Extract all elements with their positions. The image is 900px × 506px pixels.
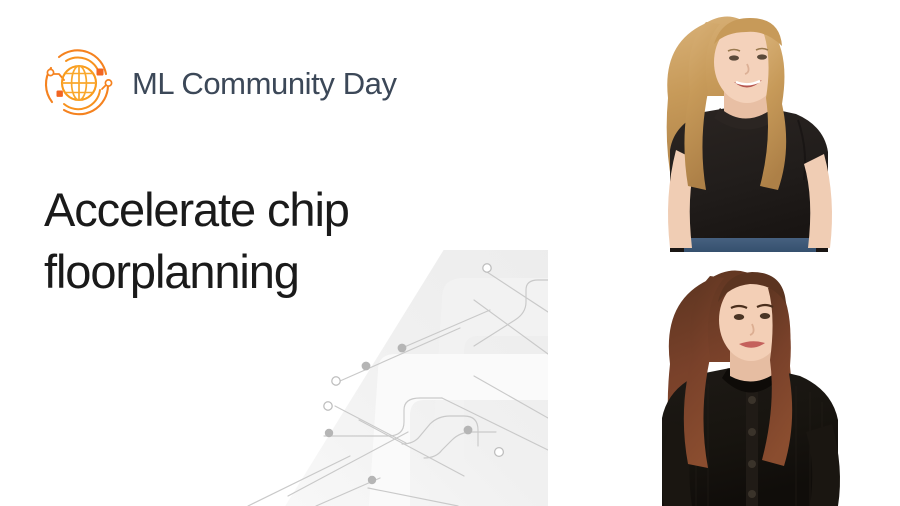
slide-title: Accelerate chip floorplanning: [44, 179, 474, 301]
slide-title-line-1: Accelerate chip: [44, 179, 474, 240]
slide-canvas: ML Community Day Accelerate chip floorpl…: [0, 0, 900, 506]
presenter-photo-1: [600, 0, 900, 252]
circuit-node-filled: [325, 344, 473, 485]
slide-title-line-2: floorplanning: [44, 241, 474, 302]
brand-name: ML Community Day: [132, 68, 397, 99]
presenter-photo-2: [600, 254, 900, 506]
brand-lockup: ML Community Day: [40, 46, 397, 120]
globe-orbit-icon: [40, 46, 118, 120]
